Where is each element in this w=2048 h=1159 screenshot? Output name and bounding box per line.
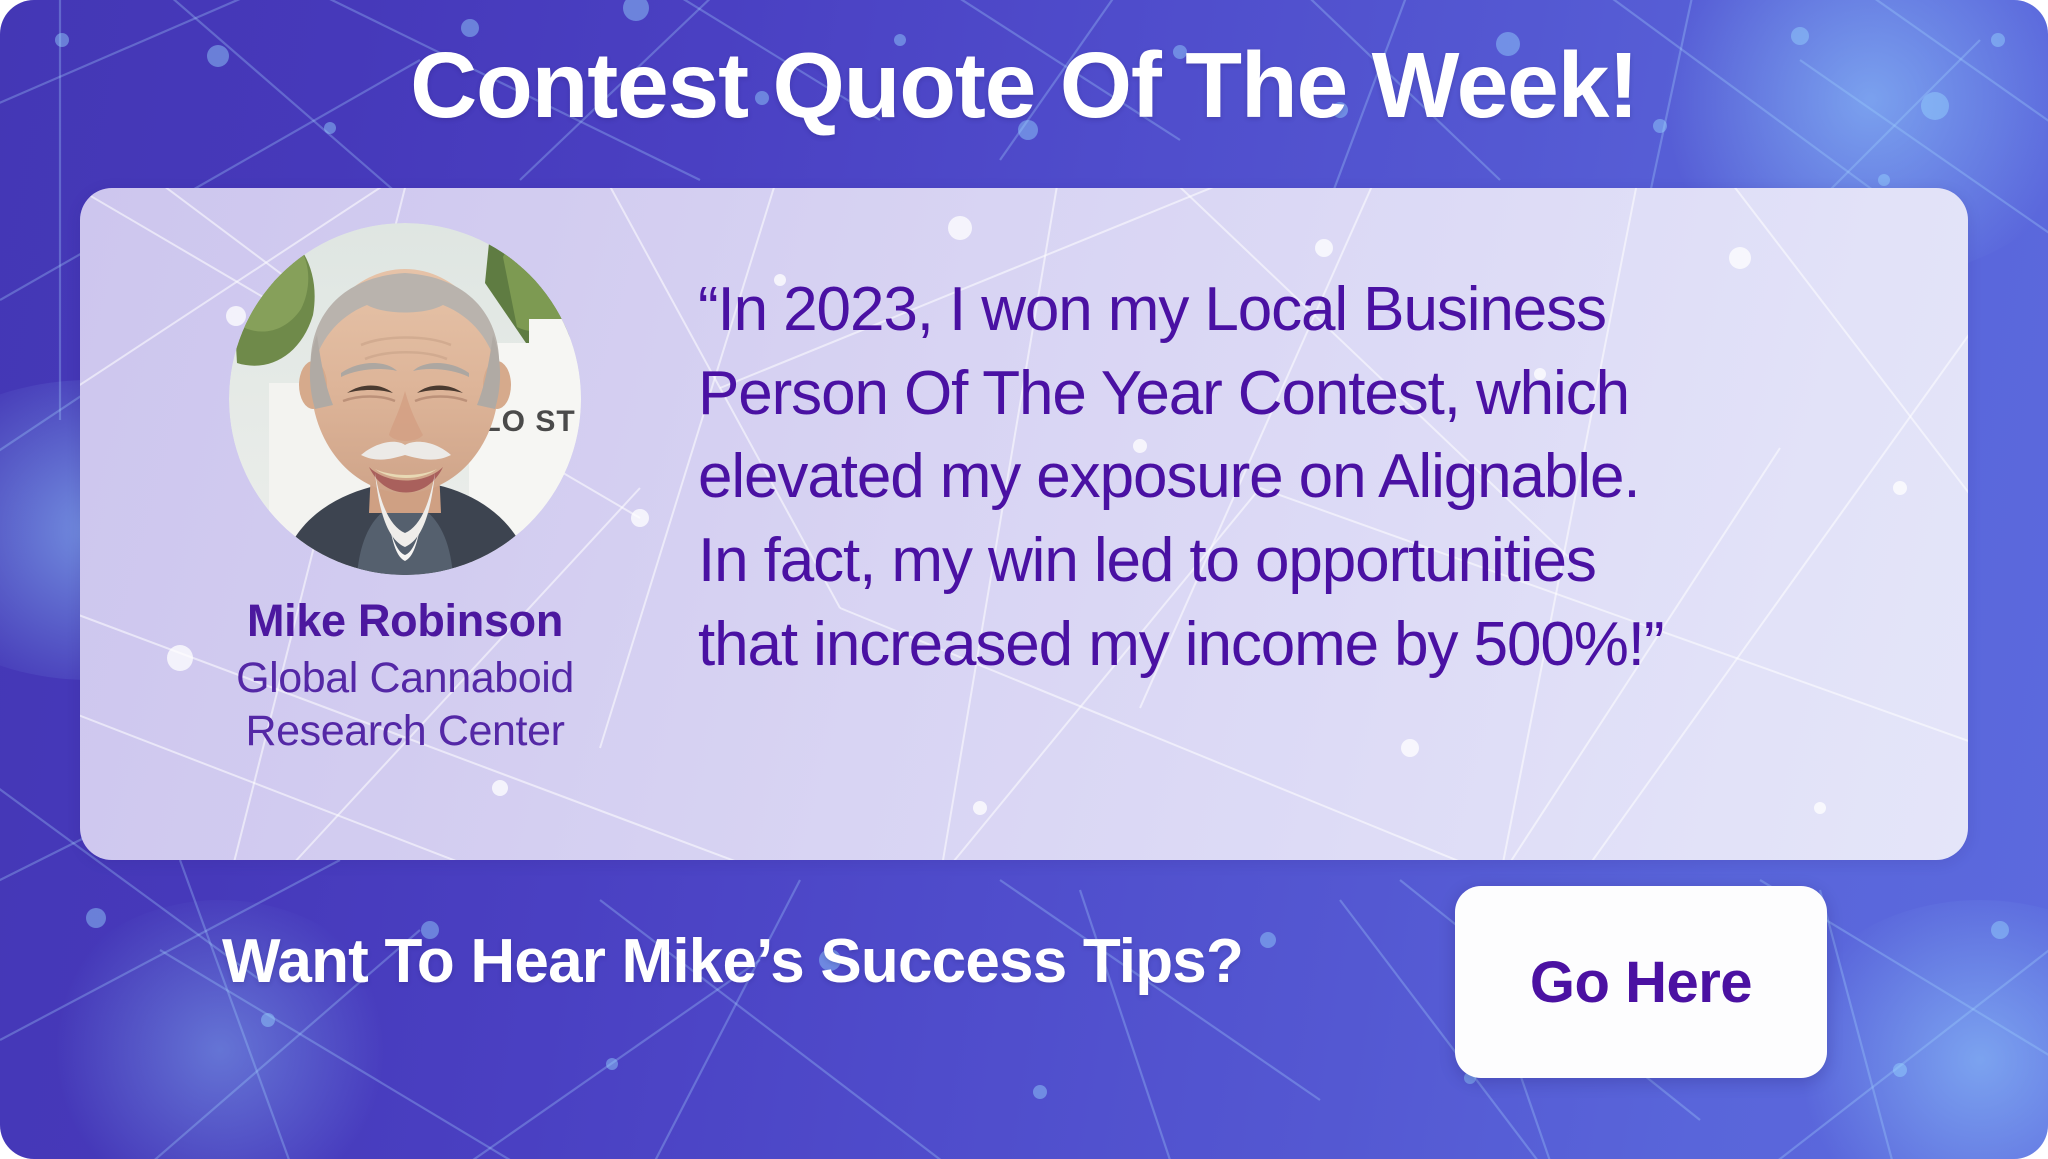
quote-line-5: that increased my income by 500%!” — [698, 603, 1928, 687]
person-organization-line-2: Research Center — [200, 705, 610, 757]
person-name: Mike Robinson — [200, 595, 610, 646]
person-block: LO ST — [200, 223, 610, 757]
go-here-button[interactable]: Go Here — [1455, 886, 1827, 1078]
quote-line-2: Person Of The Year Contest, which — [698, 352, 1928, 436]
cta-row: Want To Hear Mike’s Success Tips? Go Her… — [0, 878, 2048, 1086]
quote-text: “In 2023, I won my Local Business Person… — [698, 268, 1928, 686]
quote-line-4: In fact, my win led to opportunities — [698, 519, 1928, 603]
headline: Contest Quote Of The Week! — [0, 36, 2048, 135]
person-organization-line-1: Global Cannaboid — [200, 652, 610, 704]
headshot-photo: LO ST — [229, 223, 581, 575]
promo-banner: Contest Quote Of The Week! — [0, 0, 2048, 1159]
quote-line-3: elevated my exposure on Alignable. — [698, 435, 1928, 519]
avatar: LO ST — [229, 223, 581, 575]
person-organization: Global Cannaboid Research Center — [200, 652, 610, 757]
quote-line-1: “In 2023, I won my Local Business — [698, 268, 1928, 352]
svg-text:LO ST: LO ST — [482, 405, 575, 438]
quote-card: LO ST — [80, 188, 1968, 860]
cta-prompt: Want To Hear Mike’s Success Tips? — [222, 926, 1243, 997]
